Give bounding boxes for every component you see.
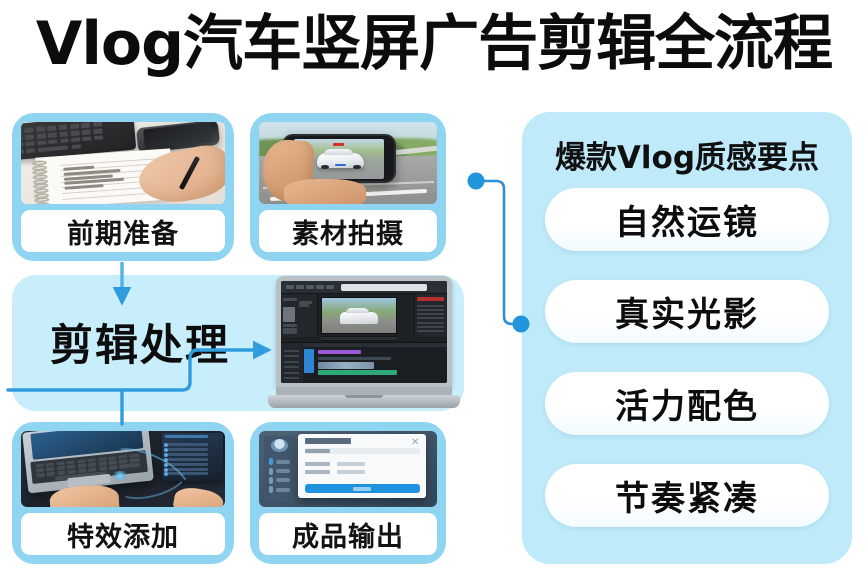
step-label-export: 成品输出 (259, 513, 437, 555)
close-icon[interactable]: ✕ (411, 438, 420, 444)
avatar (271, 439, 288, 452)
shoot-to-points-link (480, 181, 521, 324)
export-confirm-button[interactable] (305, 484, 420, 494)
step-label-editing: 剪辑处理 (50, 311, 230, 373)
step-label-preparation: 前期准备 (21, 210, 225, 252)
quality-point-pill-4[interactable]: 节奏紧凑 (545, 464, 829, 527)
step-card-export[interactable]: ✕ 成品输出 (250, 422, 446, 564)
quality-point-pill-3[interactable]: 活力配色 (545, 372, 829, 435)
quality-points-title: 爆款Vlog质感要点 (522, 132, 852, 177)
quality-points-panel: 爆款Vlog质感要点 自然运镜 真实光影 活力配色 节奏紧凑 (522, 112, 852, 564)
step-label-shooting: 素材拍摄 (259, 210, 437, 252)
quality-point-pill-1[interactable]: 自然运镜 (545, 188, 829, 251)
step-card-shooting[interactable]: 素材拍摄 (250, 113, 446, 261)
page-title: Vlog汽车竖屏广告剪辑全流程 (0, 6, 868, 82)
step-image-effects (21, 431, 225, 507)
connector-dot-start (468, 173, 485, 190)
quality-point-label-2: 真实光影 (615, 287, 759, 336)
editor-media-panel (281, 294, 318, 337)
infographic-canvas: Vlog汽车竖屏广告剪辑全流程 剪辑处理 (0, 0, 868, 575)
editor-color-panel (414, 294, 447, 337)
video-editor-screen (281, 281, 447, 383)
step-card-effects[interactable]: 特效添加 (12, 422, 234, 564)
step-image-shooting (259, 122, 437, 204)
editing-laptop-image (268, 276, 460, 408)
step-image-preparation (21, 122, 225, 204)
laptop-hinge (276, 387, 452, 395)
quality-point-label-3: 活力配色 (615, 379, 759, 428)
step-image-export: ✕ (259, 431, 437, 507)
quality-point-pill-2[interactable]: 真实光影 (545, 280, 829, 343)
editor-topbar (281, 281, 447, 294)
editor-search-bar (341, 284, 427, 291)
editor-timeline (281, 342, 447, 383)
editor-preview-monitor (321, 297, 397, 334)
laptop-base (268, 395, 460, 408)
editor-scrubber (321, 336, 397, 341)
quality-point-label-4: 节奏紧凑 (615, 471, 759, 520)
step-card-preparation[interactable]: 前期准备 (12, 113, 234, 261)
export-dialog: ✕ (298, 434, 426, 498)
laptop-lid (276, 276, 452, 388)
quality-point-label-1: 自然运镜 (615, 195, 759, 244)
step-label-effects: 特效添加 (21, 513, 225, 555)
export-sidebar (264, 436, 294, 503)
